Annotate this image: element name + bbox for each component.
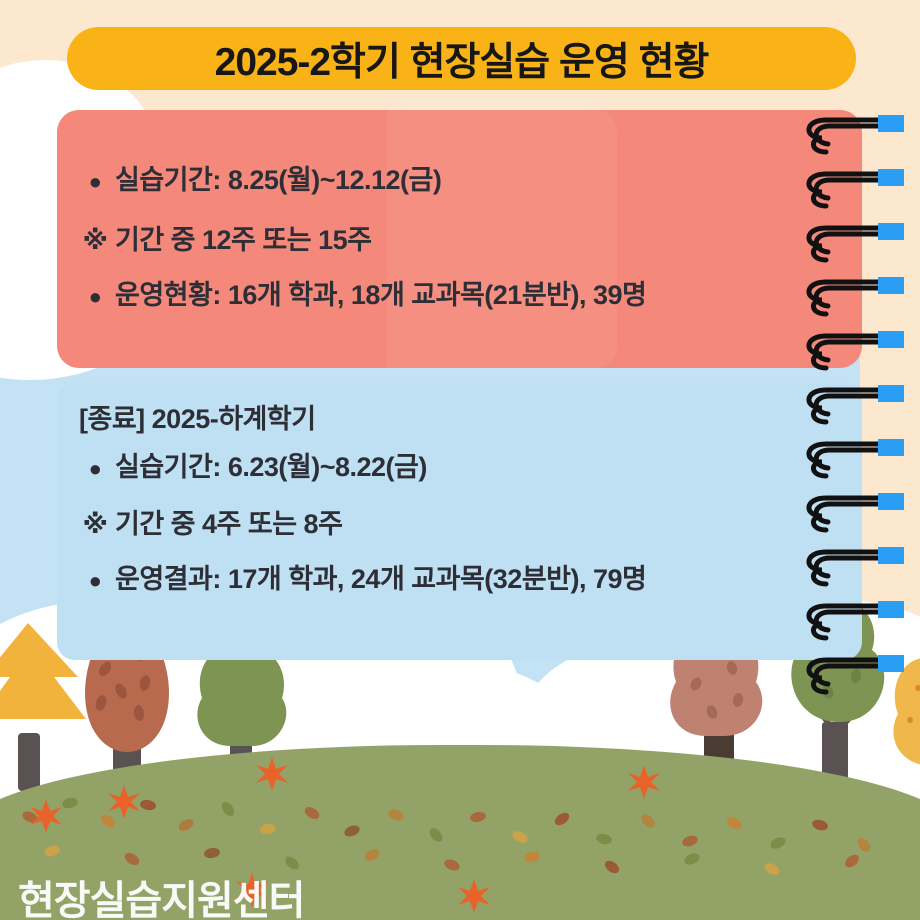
finished-card-heading: [종료] 2025-하계학기: [79, 397, 316, 436]
current-row-status: ● 운영현황: 16개 학과, 18개 교과목(21분반), 39명: [75, 273, 646, 312]
binder-ring-tab: [878, 223, 904, 240]
binder-ring-tab: [878, 655, 904, 672]
binder-ring-tab: [878, 115, 904, 132]
current-semester-card: ● 실습기간: 8.25(월)~12.12(금) ※ 기간 중 12주 또는 1…: [57, 110, 862, 368]
binder-ring-tab: [878, 601, 904, 618]
finished-row-result-text: 운영결과: 17개 학과, 24개 교과목(32분반), 79명: [115, 557, 646, 596]
binder-ring-tab: [878, 493, 904, 510]
finished-row-period: ● 실습기간: 6.23(월)~8.22(금): [75, 445, 427, 484]
bullet-dot-icon: ●: [75, 458, 115, 480]
binder-ring-tab: [878, 439, 904, 456]
current-row-period: ● 실습기간: 8.25(월)~12.12(금): [75, 158, 441, 197]
binder-ring-tab: [878, 331, 904, 348]
finished-row-note: ※ 기간 중 4주 또는 8주: [75, 502, 342, 541]
binder-ring-tab: [878, 277, 904, 294]
finished-row-note-text: 기간 중 4주 또는 8주: [115, 502, 342, 541]
current-row-note-text: 기간 중 12주 또는 15주: [115, 218, 371, 257]
reference-mark-icon: ※: [75, 227, 115, 253]
bullet-dot-icon: ●: [75, 570, 115, 592]
current-row-status-text: 운영현황: 16개 학과, 18개 교과목(21분반), 39명: [115, 273, 646, 312]
card-sheen: [387, 110, 617, 368]
binder-ring-tab: [878, 385, 904, 402]
current-row-period-text: 실습기간: 8.25(월)~12.12(금): [115, 158, 441, 197]
watermark-logo-text: 현장실습지원센터: [18, 868, 304, 920]
finished-semester-card: [종료] 2025-하계학기 ● 실습기간: 6.23(월)~8.22(금) ※…: [57, 383, 862, 660]
bullet-dot-icon: ●: [75, 286, 115, 308]
page-title: 2025-2학기 현장실습 운영 현황: [215, 31, 709, 87]
finished-row-period-text: 실습기간: 6.23(월)~8.22(금): [115, 445, 427, 484]
bullet-dot-icon: ●: [75, 171, 115, 193]
finished-row-result: ● 운영결과: 17개 학과, 24개 교과목(32분반), 79명: [75, 557, 646, 596]
binder-ring-tab: [878, 547, 904, 564]
binder-ring-tab: [878, 169, 904, 186]
current-row-note: ※ 기간 중 12주 또는 15주: [75, 218, 371, 257]
reference-mark-icon: ※: [75, 511, 115, 537]
poster-root: 2025-2학기 현장실습 운영 현황 ● 실습기간: 8.25(월)~12.1…: [0, 0, 920, 920]
poster-title-banner: 2025-2학기 현장실습 운영 현황: [67, 27, 856, 90]
spiral-binding: [800, 0, 920, 700]
